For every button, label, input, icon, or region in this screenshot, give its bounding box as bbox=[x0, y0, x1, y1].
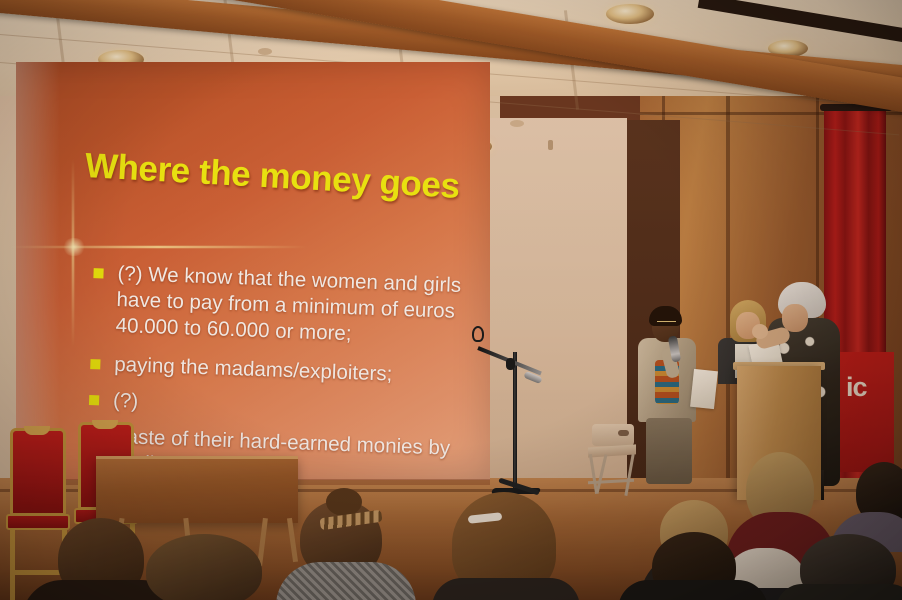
speaker-mic-glasses bbox=[657, 321, 676, 326]
chair-back bbox=[10, 428, 66, 516]
slide-bullet-item: (?) bbox=[85, 387, 496, 428]
slide-bullet-item: (?) We know that the women and girls hav… bbox=[87, 260, 499, 353]
smoke-detector bbox=[510, 120, 524, 127]
slide-bullet-item: paying the madams/exploiters; bbox=[86, 351, 497, 392]
speaker-mic-legs bbox=[646, 418, 692, 484]
red-event-banner bbox=[838, 352, 894, 472]
chair-seat bbox=[6, 514, 70, 530]
presentation-photo-scene: Where the money goes (?) We know that th… bbox=[0, 0, 902, 600]
projection-screen: Where the money goes (?) We know that th… bbox=[16, 62, 490, 480]
slide-title: Where the money goes bbox=[84, 148, 485, 207]
mic-stand-pole bbox=[513, 352, 517, 494]
ceiling-downlight bbox=[606, 4, 654, 24]
mic-stand-adjuster bbox=[506, 358, 515, 370]
folding-chair-seat bbox=[588, 444, 636, 457]
wooden-folding-table bbox=[96, 456, 298, 523]
smoke-detector bbox=[258, 48, 272, 55]
speaker-elder-hand bbox=[752, 324, 768, 339]
chair-back-notch bbox=[24, 426, 50, 435]
white-folding-chair bbox=[586, 424, 636, 494]
screen-light-falloff bbox=[16, 62, 60, 480]
chair-back-notch bbox=[92, 420, 118, 429]
lens-flare-horizontal bbox=[8, 246, 308, 248]
folding-chair-handle bbox=[618, 430, 629, 436]
speaker-papers bbox=[690, 369, 718, 409]
mic-stand-clip bbox=[472, 326, 484, 342]
lens-flare-core bbox=[62, 238, 86, 256]
banner-text: ic bbox=[846, 372, 867, 403]
sprinkler-head bbox=[548, 140, 553, 150]
audience-hair-bun bbox=[326, 488, 362, 516]
